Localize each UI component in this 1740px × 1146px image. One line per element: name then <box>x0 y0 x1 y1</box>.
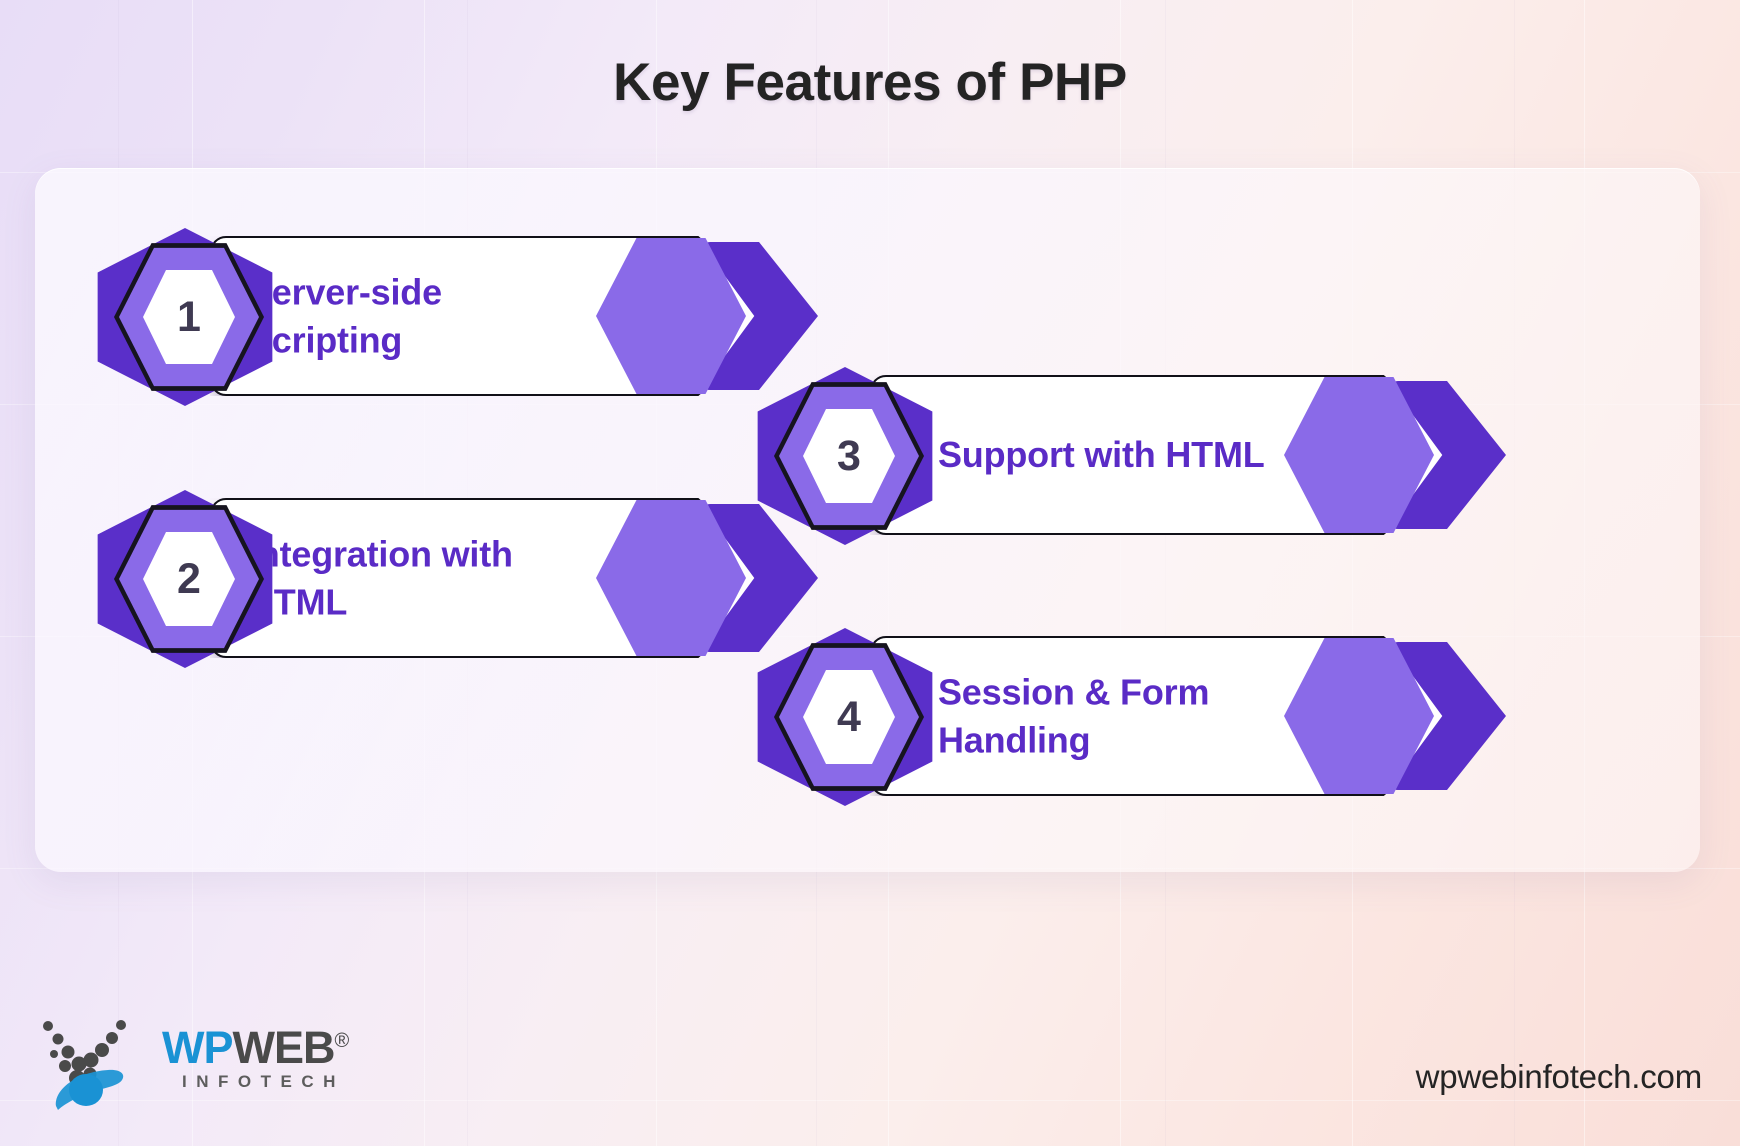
feature-card-3[interactable]: 3 Support with HTML <box>748 375 1478 535</box>
card-label-2: Integration with HTML <box>248 530 578 625</box>
card-label-4: Session & Form Handling <box>938 668 1318 763</box>
card-label-3: Support with HTML <box>938 431 1298 479</box>
card-badge-3: 3 <box>748 353 948 557</box>
card-number-4: 4 <box>803 668 895 766</box>
logo-wordmark: WPWEB® <box>162 1022 348 1074</box>
card-badge-2: 2 <box>88 476 288 680</box>
logo-web-text: WEB <box>233 1022 335 1073</box>
feature-card-1[interactable]: 1 Server-side Scripting <box>88 236 788 396</box>
card-number-1: 1 <box>143 268 235 366</box>
card-number-3: 3 <box>803 407 895 505</box>
card-number-2: 2 <box>143 530 235 628</box>
website-url: wpwebinfotech.com <box>1416 1058 1702 1096</box>
infographic-canvas: Key Features of PHP 1 Server-side Script… <box>0 0 1740 1146</box>
wpweb-planet-icon <box>34 1014 154 1114</box>
card-badge-1: 1 <box>88 214 288 418</box>
card-label-1: Server-side Scripting <box>248 268 578 363</box>
page-title: Key Features of PHP <box>0 52 1740 113</box>
feature-card-2[interactable]: 2 Integration with HTML <box>88 498 788 658</box>
card-badge-4: 4 <box>748 614 948 818</box>
brand-logo: WPWEB® INFOTECH <box>34 1010 364 1114</box>
logo-subtitle: INFOTECH <box>182 1072 345 1092</box>
registered-trademark-icon: ® <box>335 1030 349 1052</box>
feature-card-4[interactable]: 4 Session & Form Handling <box>748 636 1478 796</box>
logo-wp-text: WP <box>162 1022 233 1073</box>
